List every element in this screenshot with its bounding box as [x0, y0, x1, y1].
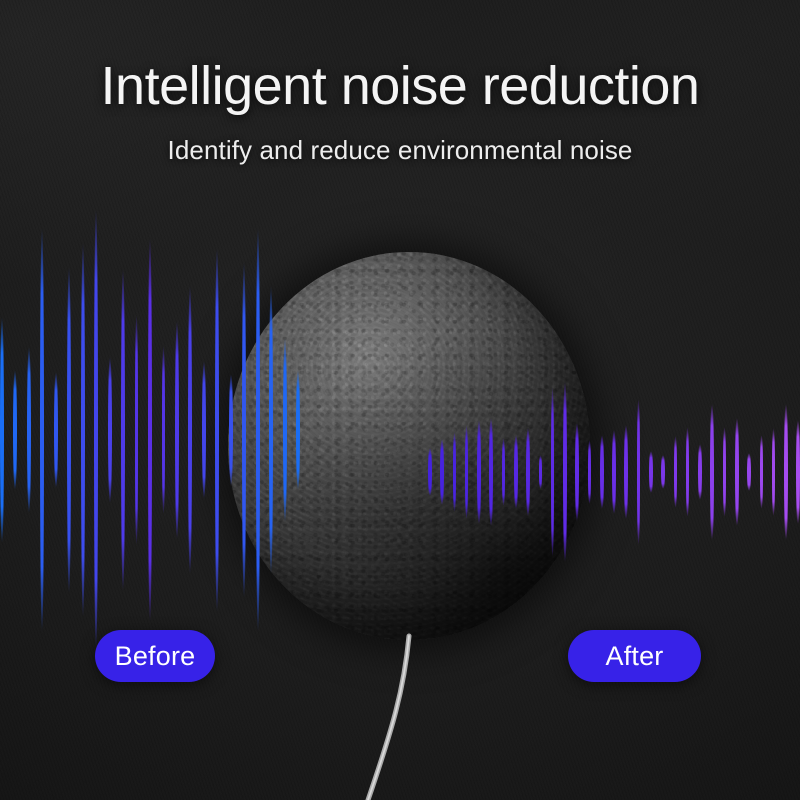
badge-after-label: After — [605, 641, 663, 672]
noise-reduction-banner: Intelligent noise reduction Identify and… — [0, 0, 800, 800]
badge-before[interactable]: Before — [95, 630, 215, 682]
badge-before-label: Before — [115, 641, 196, 672]
sphere-body — [228, 252, 590, 640]
badge-after[interactable]: After — [568, 630, 701, 682]
microphone-windscreen — [228, 252, 590, 640]
